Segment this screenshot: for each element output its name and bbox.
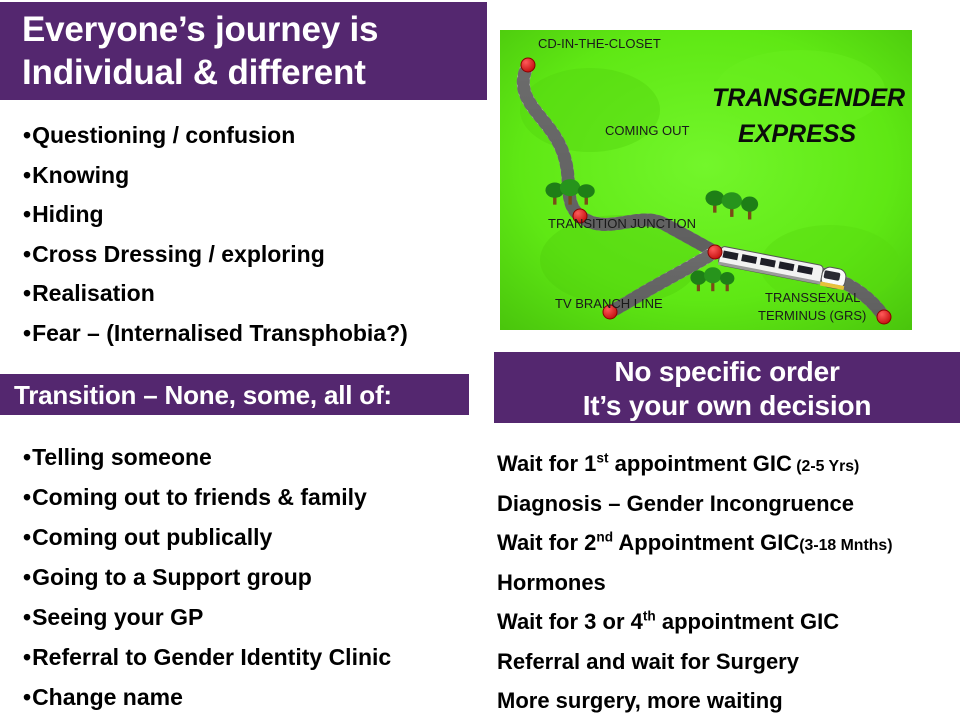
gic-pathway-steps-list: Wait for 1st appointment GIC (2-5 Yrs) D… <box>497 446 892 723</box>
journey-stages-list: Questioning / confusion Knowing Hiding C… <box>23 116 408 353</box>
list-item: Coming out to friends & family <box>23 477 391 517</box>
title-banner-line-2: Individual & different <box>22 51 487 94</box>
station-dot-closet <box>521 58 535 72</box>
transgender-express-map: TRANSGENDER EXPRESS CD-IN-THE-CLOSET COM… <box>500 30 912 330</box>
map-label-closet: CD-IN-THE-CLOSET <box>538 36 661 51</box>
map-title-line-2: EXPRESS <box>738 120 856 148</box>
list-item: Wait for 1st appointment GIC (2-5 Yrs) <box>497 446 892 486</box>
transition-steps-list: Telling someone Coming out to friends & … <box>23 437 391 717</box>
list-item: Realisation <box>23 274 408 314</box>
list-item: Hiding <box>23 195 408 235</box>
map-label-terminus-line-2: TERMINUS (GRS) <box>758 308 866 323</box>
station-dot-junction <box>708 245 722 259</box>
list-item: Going to a Support group <box>23 557 391 597</box>
list-item: Cross Dressing / exploring <box>23 235 408 275</box>
step-main-text: Wait for 1 <box>497 451 596 476</box>
step-main-text: Referral and wait for Surgery <box>497 649 799 674</box>
list-item: Change name <box>23 677 391 717</box>
list-item: Referral and wait for Surgery <box>497 644 892 684</box>
slide-canvas: Everyone’s journey is Individual & diffe… <box>0 0 960 719</box>
list-item: Fear – (Internalised Transphobia?) <box>23 314 408 354</box>
step-note-text: (3-18 Mnths) <box>799 537 892 554</box>
map-title-line-1: TRANSGENDER <box>712 84 905 112</box>
list-item: Referral to Gender Identity Clinic <box>23 637 391 677</box>
title-banner-line-1: Everyone’s journey is <box>22 8 487 51</box>
step-superscript: th <box>643 609 656 624</box>
list-item: Coming out publically <box>23 517 391 557</box>
step-rest-text: Appointment GIC <box>613 530 799 555</box>
step-main-text: More surgery, more waiting <box>497 688 783 713</box>
title-banner: Everyone’s journey is Individual & diffe… <box>0 2 487 100</box>
transition-banner: Transition – None, some, all of: <box>0 374 469 415</box>
list-item: Seeing your GP <box>23 597 391 637</box>
station-dot-terminus <box>877 310 891 324</box>
order-banner: No specific order It’s your own decision <box>494 352 960 423</box>
transition-banner-label: Transition – None, some, all of: <box>14 376 469 414</box>
list-item: More surgery, more waiting <box>497 683 892 723</box>
list-item: Questioning / confusion <box>23 116 408 156</box>
step-note-text: (2-5 Yrs) <box>792 458 859 475</box>
list-item: Wait for 2nd Appointment GIC(3-18 Mnths) <box>497 525 892 565</box>
step-main-text: Diagnosis – Gender Incongruence <box>497 491 854 516</box>
step-main-text: Hormones <box>497 570 606 595</box>
map-label-terminus-line-1: TRANSSEXUAL <box>765 290 860 305</box>
step-superscript: st <box>596 451 608 466</box>
list-item: Telling someone <box>23 437 391 477</box>
step-main-text: Wait for 3 or 4 <box>497 609 643 634</box>
map-label-tv-branch: TV BRANCH LINE <box>555 296 663 311</box>
order-banner-line-1: No specific order <box>494 355 960 389</box>
map-label-coming-out: COMING OUT <box>605 123 690 138</box>
step-rest-text: appointment GIC <box>609 451 792 476</box>
order-banner-line-2: It’s your own decision <box>494 389 960 423</box>
map-label-junction: TRANSITION JUNCTION <box>548 216 696 231</box>
step-superscript: nd <box>596 530 613 545</box>
list-item: Knowing <box>23 156 408 196</box>
step-rest-text: appointment GIC <box>656 609 839 634</box>
list-item: Wait for 3 or 4th appointment GIC <box>497 604 892 644</box>
step-main-text: Wait for 2 <box>497 530 596 555</box>
list-item: Diagnosis – Gender Incongruence <box>497 486 892 526</box>
list-item: Hormones <box>497 565 892 605</box>
